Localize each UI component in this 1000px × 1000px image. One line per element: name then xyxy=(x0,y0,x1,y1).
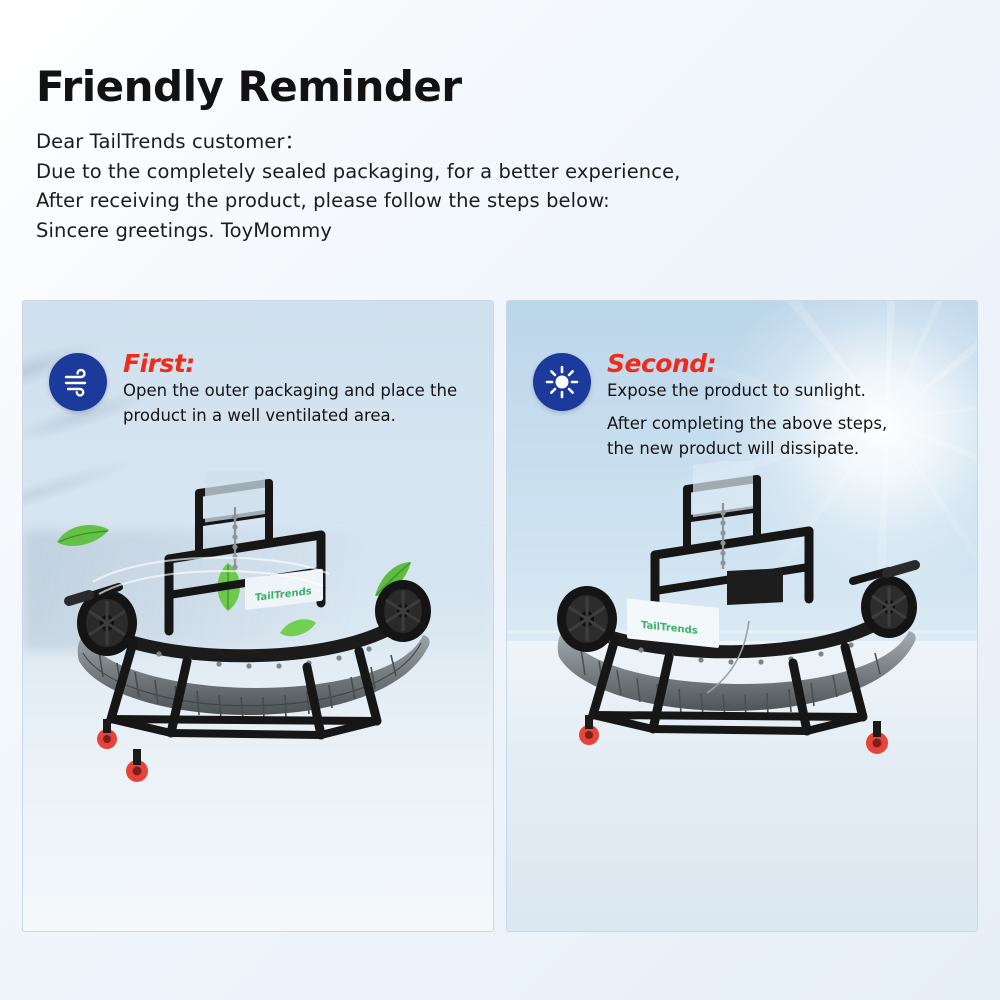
caster-wheel xyxy=(126,749,148,782)
spacer xyxy=(607,404,967,412)
caster-wheel xyxy=(866,721,888,754)
step-body-second: Expose the product to sunlight. After co… xyxy=(607,379,967,461)
panel-first: First: Open the outer packaging and plac… xyxy=(22,300,494,932)
step-body-first-line-1: Open the outer packaging and place the xyxy=(123,379,483,404)
intro-line-3: After receiving the product, please foll… xyxy=(36,186,964,216)
page-title: Friendly Reminder xyxy=(36,62,964,111)
flywheel-right xyxy=(861,576,917,638)
wind-icon-badge xyxy=(49,353,107,411)
step-body-first-line-2: product in a well ventilated area. xyxy=(123,404,483,429)
intro-paragraph: Dear TailTrends customer： Due to the com… xyxy=(36,127,964,246)
flywheel-right xyxy=(375,580,431,642)
flywheel-left xyxy=(557,586,617,652)
step-body-second-line-2: After completing the above steps, xyxy=(607,412,967,437)
step-body-first: Open the outer packaging and place the p… xyxy=(123,379,483,429)
step-label-first: First: xyxy=(123,349,195,378)
step-body-second-line-1: Expose the product to sunlight. xyxy=(607,379,967,404)
steps-panels: First: Open the outer packaging and plac… xyxy=(22,300,978,930)
step-body-second-line-3: the new product will dissipate. xyxy=(607,437,967,462)
step-label-second: Second: xyxy=(607,349,716,378)
intro-line-4: Sincere greetings. ToyMommy xyxy=(36,216,964,246)
wind-icon xyxy=(61,365,95,399)
sun-icon-badge xyxy=(533,353,591,411)
intro-line-1: Dear TailTrends customer： xyxy=(36,127,964,157)
header: Friendly Reminder Dear TailTrends custom… xyxy=(36,62,964,246)
panel-second: Second: Expose the product to sunlight. … xyxy=(506,300,978,932)
motion-swirl-decor xyxy=(83,536,343,616)
sun-icon xyxy=(545,365,579,399)
dog-treadmill-illustration: TailTrends xyxy=(59,471,459,811)
poster-page: Friendly Reminder Dear TailTrends custom… xyxy=(0,0,1000,1000)
intro-line-2: Due to the completely sealed packaging, … xyxy=(36,157,964,187)
dog-treadmill-illustration: TailTrends xyxy=(537,461,947,811)
